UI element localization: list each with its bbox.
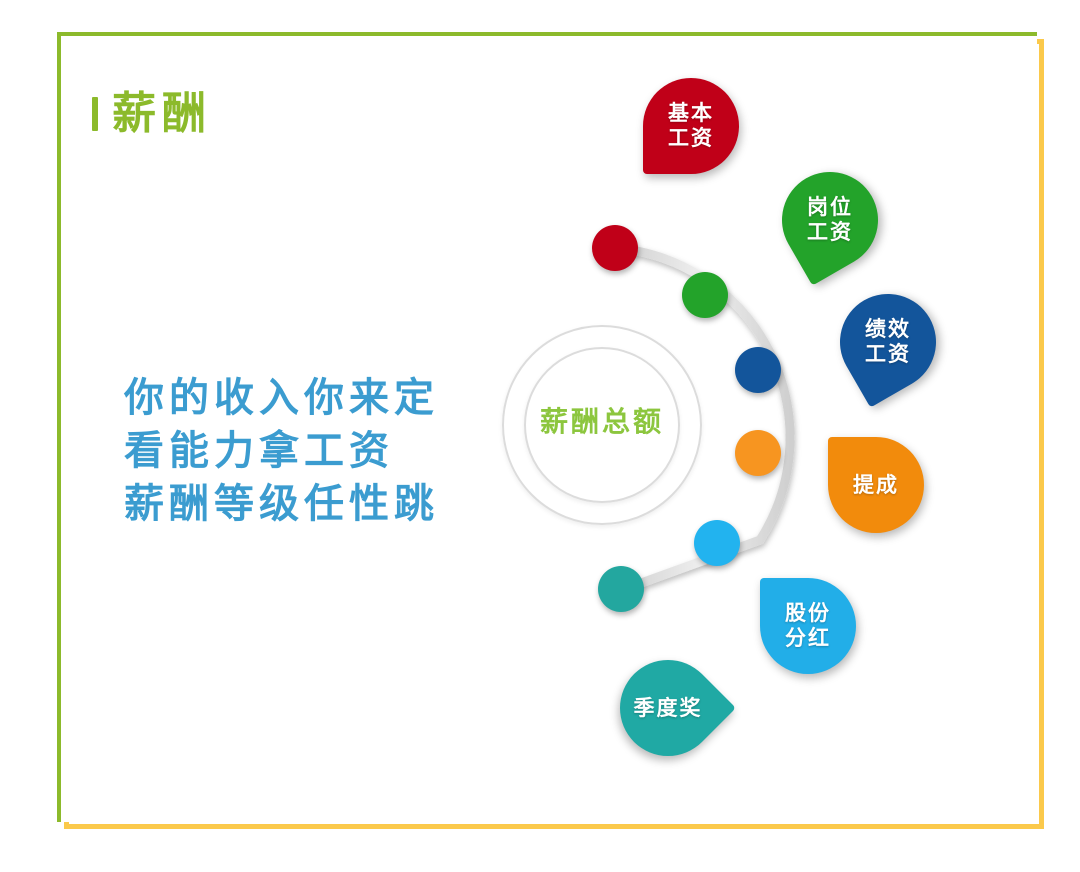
node-dot-share-dividend[interactable] bbox=[694, 520, 740, 566]
badge-label-base-salary: 基本 工资 bbox=[668, 101, 714, 151]
badge-share-dividend[interactable]: 股份 分红 bbox=[760, 578, 856, 674]
node-dot-performance-pay[interactable] bbox=[735, 347, 781, 393]
center-total-label: 薪酬总额 bbox=[502, 405, 702, 439]
node-dot-quarterly-bonus[interactable] bbox=[598, 566, 644, 612]
slogan-line-2: 看能力拿工资 bbox=[124, 425, 439, 478]
slogan-line-3: 薪酬等级任性跳 bbox=[124, 478, 439, 531]
slide-canvas: 薪酬 你的收入你来定 看能力拿工资 薪酬等级任性跳 薪酬总额 bbox=[0, 0, 1080, 872]
badge-label-quarterly-bonus: 季度奖 bbox=[634, 696, 703, 721]
badge-label-commission: 提成 bbox=[853, 473, 899, 498]
page-title: 薪酬 bbox=[92, 92, 212, 136]
badge-label-performance-pay: 绩效 工资 bbox=[865, 317, 911, 367]
node-dot-commission[interactable] bbox=[735, 430, 781, 476]
title-marker-bar bbox=[92, 97, 98, 131]
title-text: 薪酬 bbox=[112, 92, 212, 136]
badge-label-post-salary: 岗位 工资 bbox=[807, 195, 853, 245]
badge-label-share-dividend: 股份 分红 bbox=[785, 601, 831, 651]
badge-commission[interactable]: 提成 bbox=[828, 437, 924, 533]
node-dot-post-salary[interactable] bbox=[682, 272, 728, 318]
slogan-line-1: 你的收入你来定 bbox=[124, 372, 439, 425]
node-dot-base-salary[interactable] bbox=[592, 225, 638, 271]
badge-base-salary[interactable]: 基本 工资 bbox=[643, 78, 739, 174]
slogan-block: 你的收入你来定 看能力拿工资 薪酬等级任性跳 bbox=[124, 372, 439, 531]
